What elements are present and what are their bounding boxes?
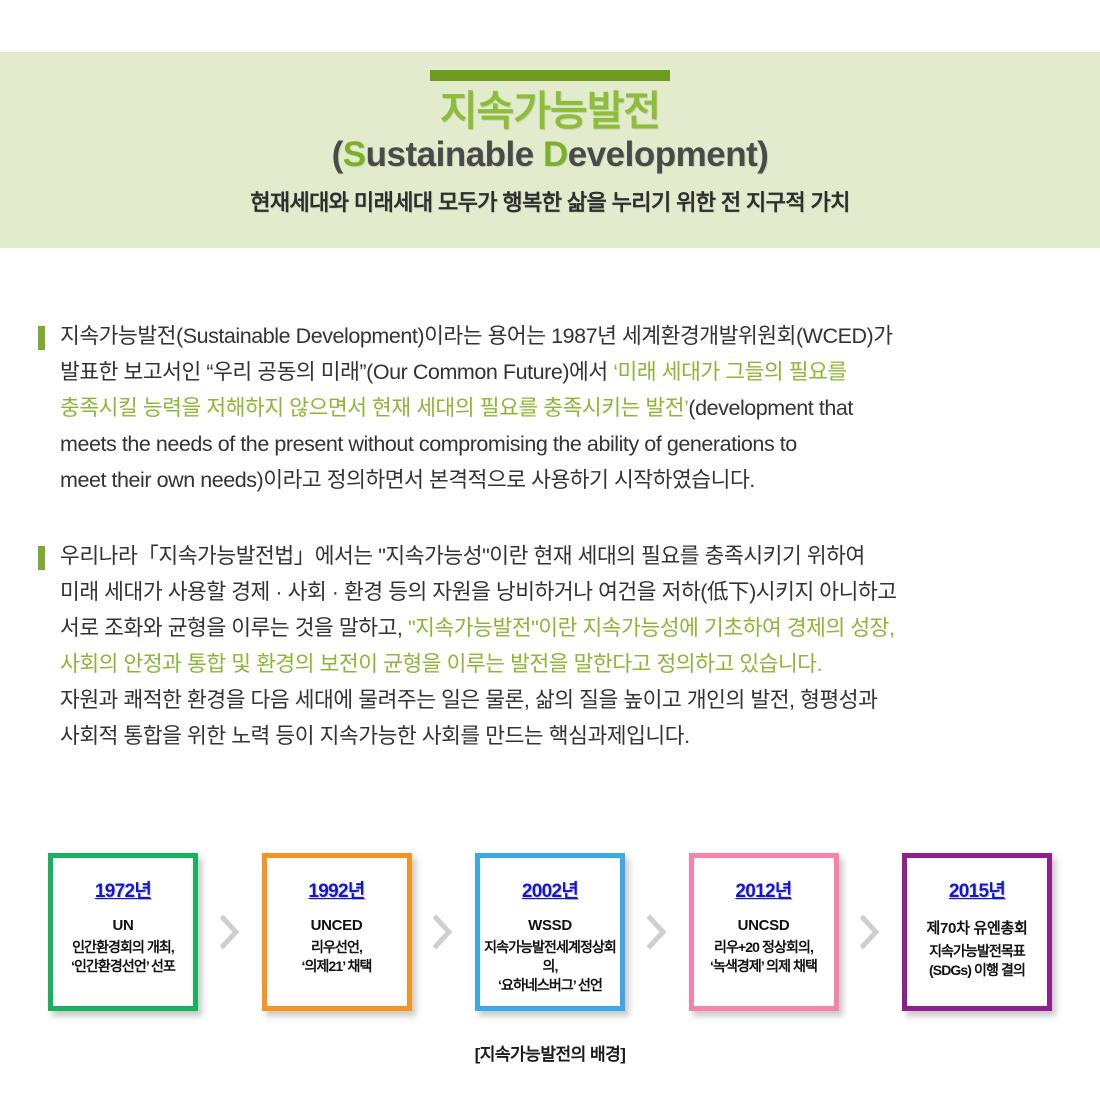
- accent-bar: [430, 70, 670, 81]
- timeline: 1972년UN인간환경회의 개최, ‘인간환경선언’ 선포1992년UNCED리…: [48, 853, 1052, 1011]
- paragraph-block-1: 지속가능발전(Sustainable Development)이라는 용어는 1…: [0, 318, 1100, 498]
- timeline-description: 인간환경회의 개최, ‘인간환경선언’ 선포: [71, 938, 175, 976]
- timeline-year: 2012년: [735, 876, 791, 903]
- chevron-right-icon: [853, 853, 887, 1011]
- paragraph-text-1: 지속가능발전(Sustainable Development)이라는 용어는 1…: [60, 318, 1060, 498]
- timeline-year: 1972년: [95, 876, 151, 903]
- timeline-box-2012[interactable]: 2012년UNCSD리우+20 정상회의, ‘녹색경제’ 의제 채택: [689, 853, 839, 1011]
- page-title-english: (Sustainable Development): [332, 135, 769, 175]
- paragraph-marker-icon: [38, 546, 45, 570]
- timeline-acronym: UNCED: [311, 917, 363, 934]
- timeline-year: 2015년: [949, 876, 1005, 903]
- page-subtitle: 현재세대와 미래세대 모두가 행복한 삶을 누리기 위한 전 지구적 가치: [250, 185, 850, 217]
- page-title-korean: 지속가능발전: [440, 90, 660, 133]
- timeline-acronym: UNCSD: [738, 917, 790, 934]
- figure-caption: [지속가능발전의 배경]: [0, 1040, 1100, 1065]
- body-content: 지속가능발전(Sustainable Development)이라는 용어는 1…: [0, 318, 1100, 794]
- paragraph-marker-icon: [38, 326, 45, 350]
- title-paren-open: (: [332, 135, 343, 174]
- timeline-box-2002[interactable]: 2002년WSSD지속가능발전세계정상회의, ‘요하네스버그’ 선언: [475, 853, 625, 1011]
- timeline-description: 리우선언, ‘의제21’ 채택: [302, 938, 372, 976]
- text-segment: 자원과 쾌적한 환경을 다음 세대에 물려주는 일은 물론, 삶의 질을 높이고…: [60, 688, 877, 748]
- timeline-acronym: UN: [112, 917, 133, 934]
- timeline-description: 리우+20 정상회의, ‘녹색경제’ 의제 채택: [710, 938, 817, 976]
- timeline-description: 지속가능발전세계정상회의, ‘요하네스버그’ 선언: [480, 938, 620, 995]
- timeline-box-2015[interactable]: 2015년제70차 유엔총회지속가능발전목표 (SDGs) 이행 결의: [902, 853, 1052, 1011]
- title-word-ustainable: ustainable: [366, 135, 543, 174]
- title-word-evelopment: evelopment): [568, 135, 769, 174]
- chevron-right-icon: [640, 853, 674, 1011]
- chevron-right-icon: [426, 853, 460, 1011]
- paragraph-block-2: 우리나라「지속가능발전법」에서는 "지속가능성"이란 현재 세대의 필요를 충족…: [0, 538, 1100, 754]
- timeline-box-1972[interactable]: 1972년UN인간환경회의 개최, ‘인간환경선언’ 선포: [48, 853, 198, 1011]
- title-letter-d: D: [543, 135, 568, 174]
- timeline-acronym: 제70차 유엔총회: [927, 917, 1028, 938]
- timeline-year: 1992년: [308, 876, 364, 903]
- paragraph-text-2: 우리나라「지속가능발전법」에서는 "지속가능성"이란 현재 세대의 필요를 충족…: [60, 538, 1060, 754]
- title-letter-s: S: [343, 135, 366, 174]
- timeline-year: 2002년: [522, 876, 578, 903]
- timeline-description: 지속가능발전목표 (SDGs) 이행 결의: [929, 942, 1025, 980]
- timeline-acronym: WSSD: [528, 917, 572, 934]
- header-banner: 지속가능발전 (Sustainable Development) 현재세대와 미…: [0, 52, 1100, 248]
- timeline-box-1992[interactable]: 1992년UNCED리우선언, ‘의제21’ 채택: [262, 853, 412, 1011]
- chevron-right-icon: [213, 853, 247, 1011]
